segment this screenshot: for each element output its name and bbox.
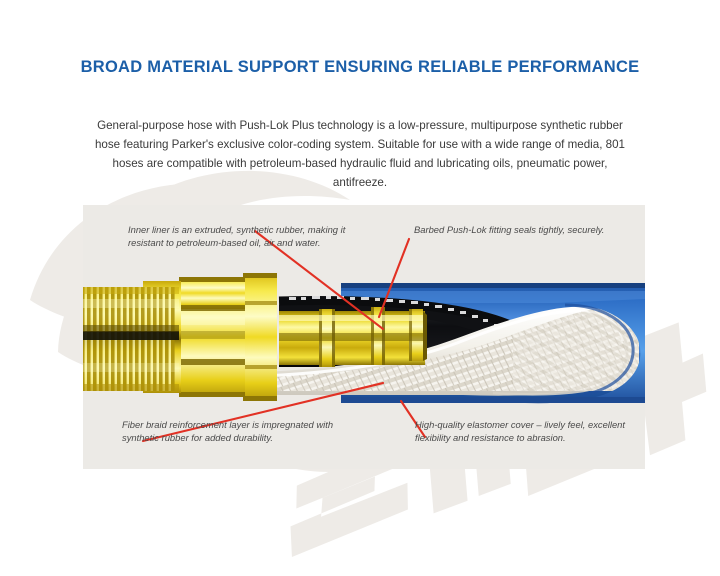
page-title: BROAD MATERIAL SUPPORT ENSURING RELIABLE… bbox=[0, 58, 720, 77]
callout-inner-liner: Inner liner is an extruded, synthetic ru… bbox=[128, 224, 360, 249]
intro-paragraph: General-purpose hose with Push-Lok Plus … bbox=[86, 116, 634, 192]
barbed-fitting-stem bbox=[279, 307, 427, 367]
callout-fiber-braid: Fiber braid reinforcement layer is impre… bbox=[122, 419, 337, 444]
callout-elastomer-cover: High-quality elastomer cover – lively fe… bbox=[415, 419, 630, 444]
fitting-hex-nut bbox=[179, 273, 277, 401]
threaded-shank bbox=[83, 281, 181, 393]
page-root: BROAD MATERIAL SUPPORT ENSURING RELIABLE… bbox=[0, 0, 720, 576]
callout-barbed-fitting: Barbed Push-Lok fitting seals tightly, s… bbox=[414, 224, 614, 237]
threads-group bbox=[83, 287, 179, 391]
